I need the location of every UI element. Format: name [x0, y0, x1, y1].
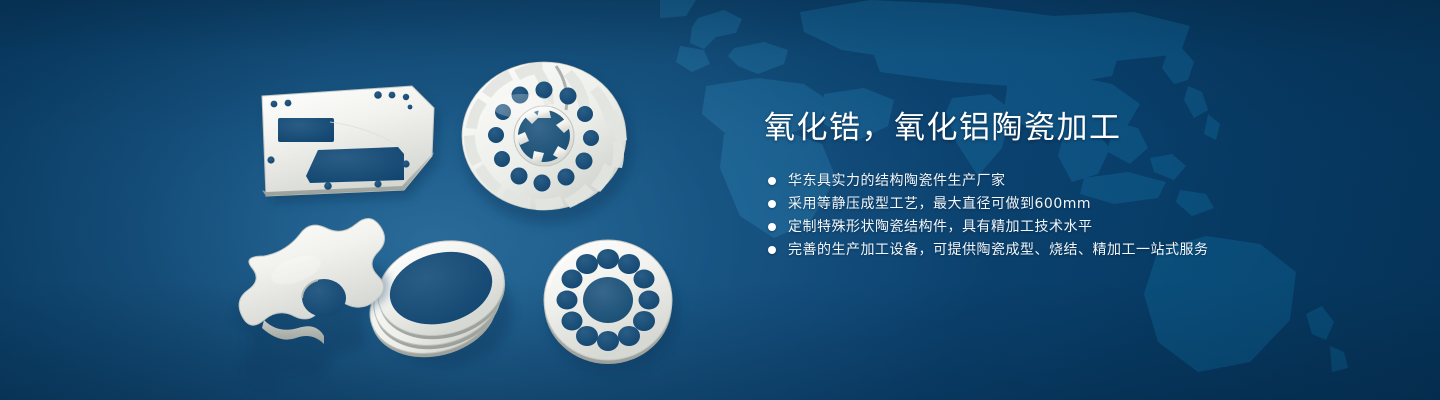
bullet-dot-icon [768, 200, 776, 208]
ceramic-perforated-disc-part [544, 240, 679, 374]
bullet-dot-icon [768, 246, 776, 254]
list-item: 完善的生产加工设备，可提供陶瓷成型、烧结、精加工一站式服务 [764, 239, 1404, 261]
ceramic-impeller-part [462, 62, 634, 224]
list-item-label: 采用等静压成型工艺，最大直径可做到600mm [788, 193, 1091, 215]
feature-list: 华东具实力的结构陶瓷件生产厂家 采用等静压成型工艺，最大直径可做到600mm 定… [764, 170, 1404, 261]
list-item-label: 完善的生产加工设备，可提供陶瓷成型、烧结、精加工一站式服务 [788, 239, 1209, 261]
bullet-dot-icon [768, 223, 776, 231]
ceramic-rings-part [360, 228, 515, 370]
bullet-dot-icon [768, 177, 776, 185]
list-item: 华东具实力的结构陶瓷件生产厂家 [764, 170, 1404, 192]
list-item: 定制特殊形状陶瓷结构件，具有精加工技术水平 [764, 216, 1404, 238]
ceramic-plate-part [262, 86, 439, 203]
ceramic-products-image [0, 0, 740, 400]
hero-banner: 氧化锆，氧化铝陶瓷加工 华东具实力的结构陶瓷件生产厂家 采用等静压成型工艺，最大… [0, 0, 1440, 400]
list-item-label: 定制特殊形状陶瓷结构件，具有精加工技术水平 [788, 216, 1093, 238]
page-title: 氧化锆，氧化铝陶瓷加工 [764, 108, 1404, 148]
ceramic-cross-part [235, 218, 388, 389]
banner-text-block: 氧化锆，氧化铝陶瓷加工 华东具实力的结构陶瓷件生产厂家 采用等静压成型工艺，最大… [764, 108, 1404, 262]
list-item-label: 华东具实力的结构陶瓷件生产厂家 [788, 170, 1006, 192]
list-item: 采用等静压成型工艺，最大直径可做到600mm [764, 193, 1404, 215]
